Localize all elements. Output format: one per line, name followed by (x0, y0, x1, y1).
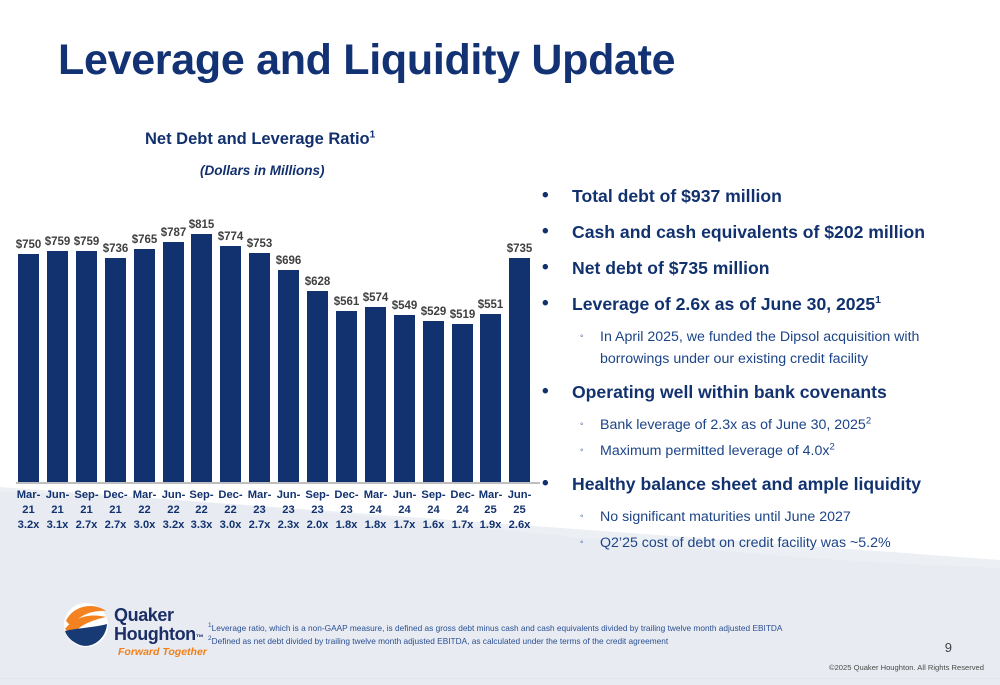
bar-column: $759 (47, 196, 68, 482)
bullet-main: •Cash and cash equivalents of $202 milli… (534, 214, 986, 250)
bar-column: $549 (394, 196, 415, 482)
bar-value-label: $735 (507, 243, 533, 255)
chart-title-footnote-marker: 1 (370, 130, 376, 141)
bullet-dot-icon: • (542, 286, 549, 322)
quaker-houghton-logo: Quaker Houghton™ Forward Together (62, 601, 212, 665)
bar-value-label: $753 (247, 238, 273, 250)
bar-column: $759 (76, 196, 97, 482)
footnote-text: Leverage ratio, which is a non-GAAP meas… (212, 623, 783, 633)
bullet-sub: ◦Maximum permitted leverage of 4.0x2 (534, 440, 986, 462)
chart-title: Net Debt and Leverage Ratio1 (145, 130, 375, 149)
bar-value-label: $574 (363, 292, 389, 304)
bar-column: $519 (452, 196, 473, 482)
logo-mark-icon (62, 601, 110, 649)
bar (307, 291, 328, 482)
bar-value-label: $815 (189, 219, 215, 231)
chart-x-axis-labels: Mar-213.2xJun-213.1xSep-212.7xDec-212.7x… (14, 488, 542, 544)
bullet-main: •Leverage of 2.6x as of June 30, 20251 (534, 286, 986, 322)
bullet-text: Cash and cash equivalents of $202 millio… (572, 222, 925, 242)
logo-trademark: ™ (196, 633, 204, 642)
bullet-main: •Operating well within bank covenants (534, 374, 986, 410)
bar-column: $750 (18, 196, 39, 482)
bullet-footnote-marker: 2 (829, 441, 834, 452)
bullet-text: Net debt of $735 million (572, 258, 769, 278)
bullet-main: •Total debt of $937 million (534, 178, 986, 214)
bullet-text: Bank leverage of 2.3x as of June 30, 202… (600, 417, 866, 433)
bullet-circle-icon: ◦ (580, 506, 584, 528)
bar-value-label: $774 (218, 231, 244, 243)
chart-plot-area: $750$759$759$736$765$787$815$774$753$696… (14, 196, 542, 484)
chart-title-text: Net Debt and Leverage Ratio (145, 130, 370, 148)
footnote-row: 2Defined as net debt divided by trailing… (208, 635, 848, 648)
bar-column: $736 (105, 196, 126, 482)
bar-column: $774 (220, 196, 241, 482)
bar-column: $696 (278, 196, 299, 482)
bullet-dot-icon: • (542, 374, 549, 410)
bar (365, 307, 386, 482)
logo-line-1: Quaker (114, 605, 174, 626)
bar (249, 253, 270, 482)
bullet-text: No significant maturities until June 202… (600, 509, 851, 525)
bar (394, 315, 415, 482)
bar-value-label: $519 (450, 309, 476, 321)
bullet-circle-icon: ◦ (580, 532, 584, 554)
bar-value-label: $628 (305, 276, 331, 288)
bullet-sub: ◦Bank leverage of 2.3x as of June 30, 20… (534, 414, 986, 436)
bullet-footnote-marker: 2 (866, 415, 871, 426)
bullet-footnote-marker: 1 (875, 294, 881, 306)
bar-value-label: $759 (45, 236, 71, 248)
bullet-text: Maximum permitted leverage of 4.0x (600, 443, 829, 459)
bar (278, 270, 299, 482)
x-axis-label-month: Jun- (503, 488, 537, 503)
bar (76, 251, 97, 482)
logo-line-2: Houghton™ (114, 624, 203, 645)
chart-baseline-axis (16, 482, 540, 484)
bar (452, 324, 473, 482)
bar-column: $765 (134, 196, 155, 482)
chart-subtitle: (Dollars in Millions) (200, 163, 325, 178)
bar (18, 254, 39, 482)
bullet-text: In April 2025, we funded the Dipsol acqu… (600, 329, 919, 367)
bullet-dot-icon: • (542, 214, 549, 250)
bullet-sub: ◦Q2’25 cost of debt on credit facility w… (534, 532, 986, 554)
bar-column: $561 (336, 196, 357, 482)
bullet-dot-icon: • (542, 250, 549, 286)
bullet-text: Healthy balance sheet and ample liquidit… (572, 474, 921, 494)
bullet-dot-icon: • (542, 466, 549, 502)
x-axis-label-year: 25 (503, 503, 537, 518)
bar-column: $551 (480, 196, 501, 482)
key-points-list: •Total debt of $937 million•Cash and cas… (534, 178, 986, 558)
footnote-text: Defined as net debt divided by trailing … (212, 636, 669, 646)
bullet-circle-icon: ◦ (580, 414, 584, 436)
bar-column: $815 (191, 196, 212, 482)
slide-canvas: Leverage and Liquidity Update Net Debt a… (0, 0, 1000, 685)
footnote-row: 1Leverage ratio, which is a non-GAAP mea… (208, 622, 848, 635)
page-title: Leverage and Liquidity Update (58, 36, 675, 85)
bar (336, 311, 357, 482)
bullet-text: Leverage of 2.6x as of June 30, 2025 (572, 294, 875, 314)
bar-value-label: $551 (478, 299, 504, 311)
bullet-main: •Net debt of $735 million (534, 250, 986, 286)
bar (105, 258, 126, 482)
bullet-text: Operating well within bank covenants (572, 382, 887, 402)
bar-value-label: $765 (132, 234, 158, 246)
x-axis-label: Jun-252.6x (503, 488, 537, 533)
bar-column: $735 (509, 196, 530, 482)
bar-value-label: $529 (421, 306, 447, 318)
bullet-main: •Healthy balance sheet and ample liquidi… (534, 466, 986, 502)
bar-value-label: $750 (16, 239, 42, 251)
bullet-dot-icon: • (542, 178, 549, 214)
bar (163, 242, 184, 482)
bar-column: $753 (249, 196, 270, 482)
bar (480, 314, 501, 482)
bullet-text: Total debt of $937 million (572, 186, 782, 206)
bullet-sub: ◦No significant maturities until June 20… (534, 506, 986, 528)
bullet-circle-icon: ◦ (580, 440, 584, 462)
bullet-sub: ◦In April 2025, we funded the Dipsol acq… (534, 326, 970, 370)
bar (423, 321, 444, 482)
bar-value-label: $787 (161, 227, 187, 239)
x-axis-leverage-ratio: 2.6x (503, 518, 537, 533)
bar (191, 234, 212, 482)
bullet-circle-icon: ◦ (580, 326, 584, 348)
copyright-notice: ©2025 Quaker Houghton. All Rights Reserv… (829, 663, 984, 672)
bar-value-label: $561 (334, 296, 360, 308)
logo-tagline: Forward Together (118, 646, 207, 658)
logo-line-2-text: Houghton (114, 624, 196, 644)
bar-column: $628 (307, 196, 328, 482)
bar-value-label: $759 (74, 236, 100, 248)
footnotes: 1Leverage ratio, which is a non-GAAP mea… (208, 622, 848, 647)
bar (47, 251, 68, 482)
bar-column: $529 (423, 196, 444, 482)
bar-value-label: $736 (103, 243, 129, 255)
bullet-text: Q2’25 cost of debt on credit facility wa… (600, 535, 891, 551)
bar (134, 249, 155, 482)
bar-value-label: $549 (392, 300, 418, 312)
bar (509, 258, 530, 482)
page-number: 9 (945, 640, 952, 655)
bar-value-label: $696 (276, 255, 302, 267)
net-debt-bar-chart: $750$759$759$736$765$787$815$774$753$696… (14, 196, 542, 544)
bar-column: $787 (163, 196, 184, 482)
bar-column: $574 (365, 196, 386, 482)
bar (220, 246, 241, 482)
